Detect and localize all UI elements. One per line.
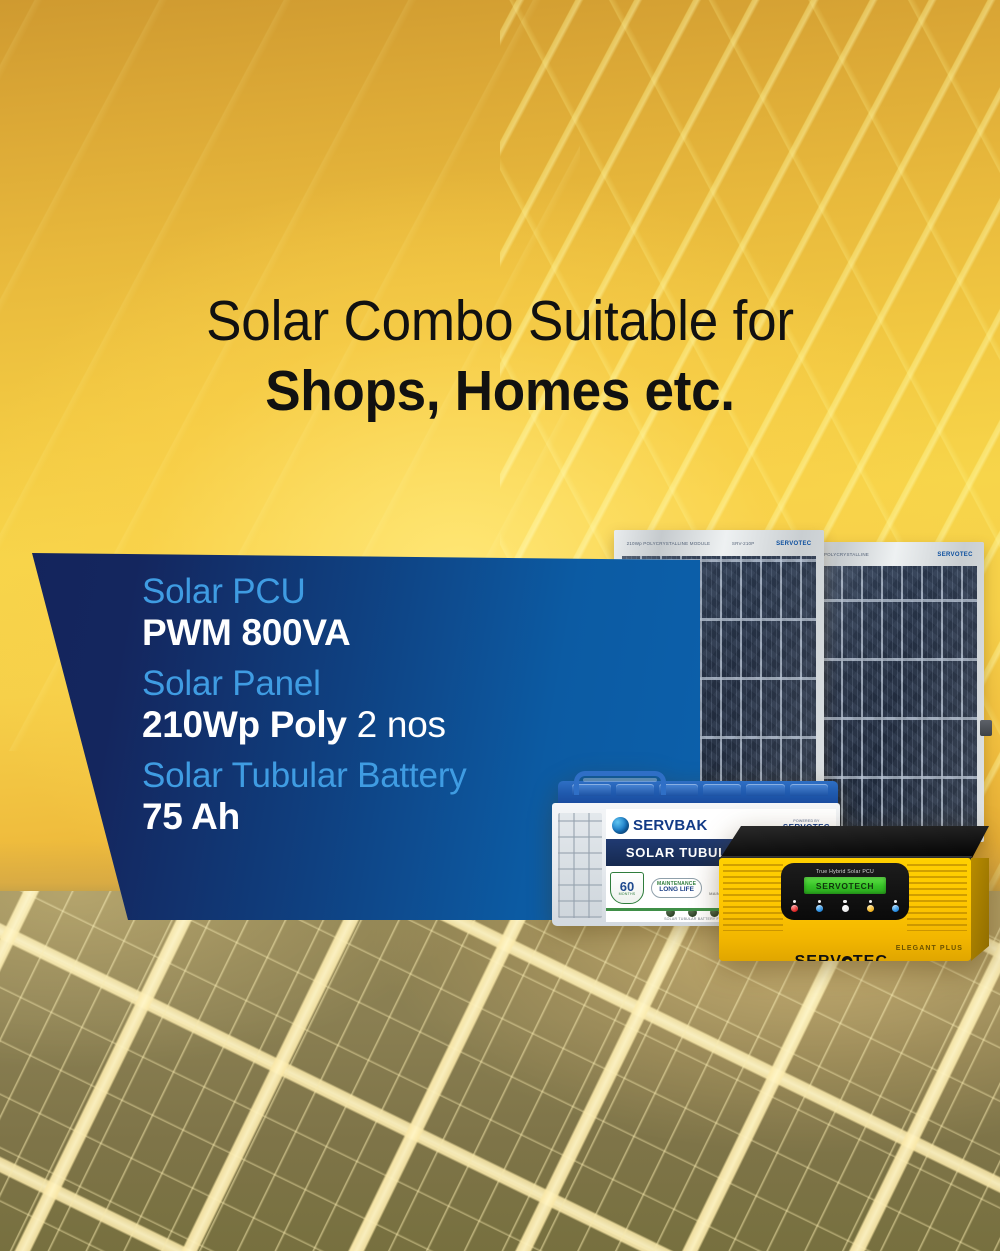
spec-value-main-solar-panel: 210Wp Poly <box>142 704 347 745</box>
inverter-led-red <box>791 905 798 912</box>
battery-vent-cap <box>746 784 785 796</box>
inverter-lcd-text: SERVOTECH <box>816 881 874 891</box>
inverter-lcd-display: SERVOTECH <box>804 877 886 894</box>
inverter-side-panel <box>971 858 989 961</box>
promo-banner: Solar Combo Suitable for Shops, Homes et… <box>0 0 1000 1251</box>
sun-icon <box>842 956 853 961</box>
inverter-led-group <box>816 900 823 912</box>
inverter-front-face: True Hybrid Solar PCU SERVOTECH <box>719 858 971 961</box>
battery-vent-cap <box>790 784 829 796</box>
spec-item-solar-pcu: Solar PCU PWM 800VA <box>142 574 612 651</box>
inverter-led-marker <box>869 900 872 903</box>
inverter-vents-right <box>907 864 967 931</box>
spec-item-solar-battery: Solar Tubular Battery 75 Ah <box>142 758 612 835</box>
solar-panel-back-brand: SERVOTEC <box>937 552 972 558</box>
headline-line-2: Shops, Homes etc. <box>35 362 965 420</box>
badge-long-life: MAINTENANCE LONG LIFE <box>651 878 702 898</box>
solar-pcu-inverter: True Hybrid Solar PCU SERVOTECH <box>719 826 989 961</box>
inverter-caption: True Hybrid Solar PCU <box>816 869 874 875</box>
inverter-brand-part-1: SERV <box>795 953 842 961</box>
badge-warranty-value: 60 <box>620 880 634 893</box>
spec-value-solar-battery: 75 Ah <box>142 798 612 835</box>
spec-item-solar-panel: Solar Panel 210Wp Poly 2 nos <box>142 666 612 743</box>
inverter-brand-part-2: TEC <box>853 953 888 961</box>
spec-label-solar-pcu: Solar PCU <box>142 574 612 609</box>
spec-qty-solar-panel: 2 nos <box>347 704 446 745</box>
solar-panel-front-spec-text: 210Wp POLYCRYSTALLINE MODULE <box>627 541 711 546</box>
inverter-led-marker <box>818 900 821 903</box>
inverter-led-marker <box>894 900 897 903</box>
spec-label-solar-battery: Solar Tubular Battery <box>142 758 612 793</box>
inverter-led-blue <box>816 905 823 912</box>
inverter-led-row <box>791 900 899 912</box>
spec-value-main-solar-pcu: PWM 800VA <box>142 612 350 653</box>
solar-panel-front-label: 210Wp POLYCRYSTALLINE MODULE SRV-210P SE… <box>627 539 812 548</box>
inverter-led-amber <box>867 905 874 912</box>
spec-value-solar-pcu: PWM 800VA <box>142 614 612 651</box>
solar-panel-back-label: 210Wp POLYCRYSTALLINE SERVOTEC <box>807 550 972 559</box>
spec-label-solar-panel: Solar Panel <box>142 666 612 701</box>
badge-warranty-unit: MONTHS <box>619 893 636 897</box>
battery-brand: SERVBAK <box>633 817 707 834</box>
inverter-led-blue-2 <box>892 905 899 912</box>
inverter-led-group <box>791 900 798 912</box>
battery-vent-cap <box>703 784 742 796</box>
inverter-led-marker <box>793 900 796 903</box>
solar-panel-front-model-text: SRV-210P <box>732 541 755 546</box>
solar-panel-back-junction-box <box>980 720 992 736</box>
globe-icon <box>612 817 629 834</box>
inverter-model-name: ELEGANT PLUS <box>896 945 963 952</box>
inverter-led-group <box>842 900 849 912</box>
inverter-display-bezel: True Hybrid Solar PCU SERVOTECH <box>781 863 909 920</box>
inverter-led-group <box>892 900 899 912</box>
badge-long-life-main: LONG LIFE <box>657 887 696 894</box>
inverter-brand: SERVTEC <box>795 953 888 961</box>
solar-panel-front-brand: SERVOTEC <box>776 541 811 547</box>
headline-line-1: Solar Combo Suitable for <box>35 292 965 350</box>
spec-value-solar-panel: 210Wp Poly 2 nos <box>142 706 612 743</box>
inverter-led-white <box>842 905 849 912</box>
inverter-led-group <box>867 900 874 912</box>
spec-list: Solar PCU PWM 800VA Solar Panel 210Wp Po… <box>142 574 612 835</box>
inverter-top-panel <box>719 826 989 860</box>
inverter-vents-left <box>723 864 783 931</box>
inverter-led-marker <box>843 900 846 903</box>
headline: Solar Combo Suitable for Shops, Homes et… <box>0 292 1000 420</box>
spec-value-main-solar-battery: 75 Ah <box>142 796 240 837</box>
badge-warranty: 60 MONTHS <box>610 872 644 904</box>
